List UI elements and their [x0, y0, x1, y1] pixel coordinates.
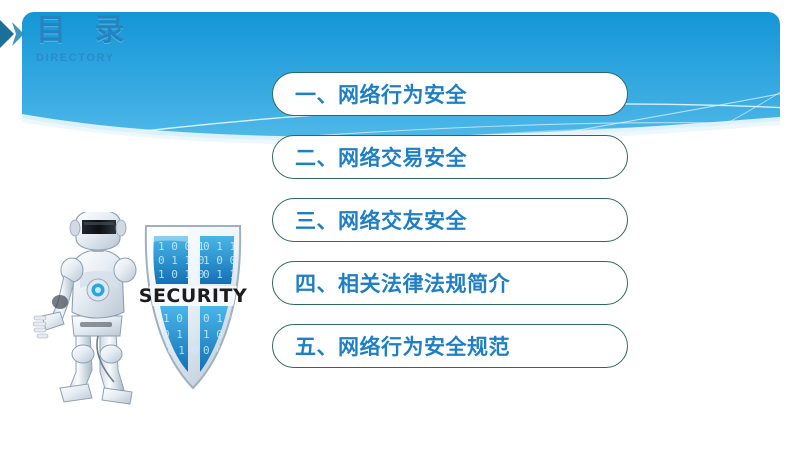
toc-item-2[interactable]: 二、网络交易安全: [272, 135, 628, 179]
svg-text:0 1 0: 0 1 0: [203, 312, 236, 325]
robot-hand: [33, 312, 64, 338]
shield-security-text: SECURITY: [139, 285, 247, 307]
svg-text:0 1 0: 0 1 0: [163, 328, 196, 341]
toc-item-4[interactable]: 四、相关法律法规简介: [272, 261, 628, 305]
svg-text:1 0 1 0: 1 0 1 0: [158, 268, 204, 281]
toc-item-5[interactable]: 五、网络行为安全规范: [272, 324, 628, 368]
toc-item-label: 二、网络交易安全: [295, 142, 467, 172]
svg-text:0 1 1: 0 1 1: [203, 240, 236, 253]
svg-text:0 0 1: 0 0 1: [203, 344, 236, 357]
svg-text:1 1 0: 1 1 0: [165, 344, 198, 357]
toc-item-1[interactable]: 一、网络行为安全: [272, 72, 628, 116]
svg-text:1 0 1: 1 0 1: [163, 312, 196, 325]
toc-item-label: 三、网络交友安全: [295, 205, 467, 235]
chevron-right-icon: [0, 20, 26, 48]
toc-list: 一、网络行为安全 二、网络交易安全 三、网络交友安全 四、相关法律法规简介 五、…: [272, 72, 628, 368]
svg-text:1 0 1: 1 0 1: [203, 328, 236, 341]
svg-text:1 0 0 1: 1 0 0 1: [158, 240, 204, 253]
robot-holding-security-shield: 1 0 0 1 0 1 1 0 1 0 1 0 0 1 1 1 0 0 0 1 …: [28, 212, 260, 410]
svg-text:0 1 1: 0 1 1: [203, 268, 236, 281]
slide-canvas: 目 录 DIRECTORY 一、网络行为安全 二、网络交易安全 三、网络交友安全…: [0, 0, 800, 450]
robot-figure: [33, 212, 136, 404]
toc-item-3[interactable]: 三、网络交友安全: [272, 198, 628, 242]
svg-text:1 0 0: 1 0 0: [203, 254, 236, 267]
security-shield: 1 0 0 1 0 1 1 0 1 0 1 0 0 1 1 1 0 0 0 1 …: [139, 226, 247, 388]
svg-text:0 1 1 0: 0 1 1 0: [158, 254, 204, 267]
toc-item-label: 四、相关法律法规简介: [295, 268, 510, 298]
toc-item-label: 一、网络行为安全: [295, 79, 467, 109]
toc-item-label: 五、网络行为安全规范: [295, 331, 510, 361]
